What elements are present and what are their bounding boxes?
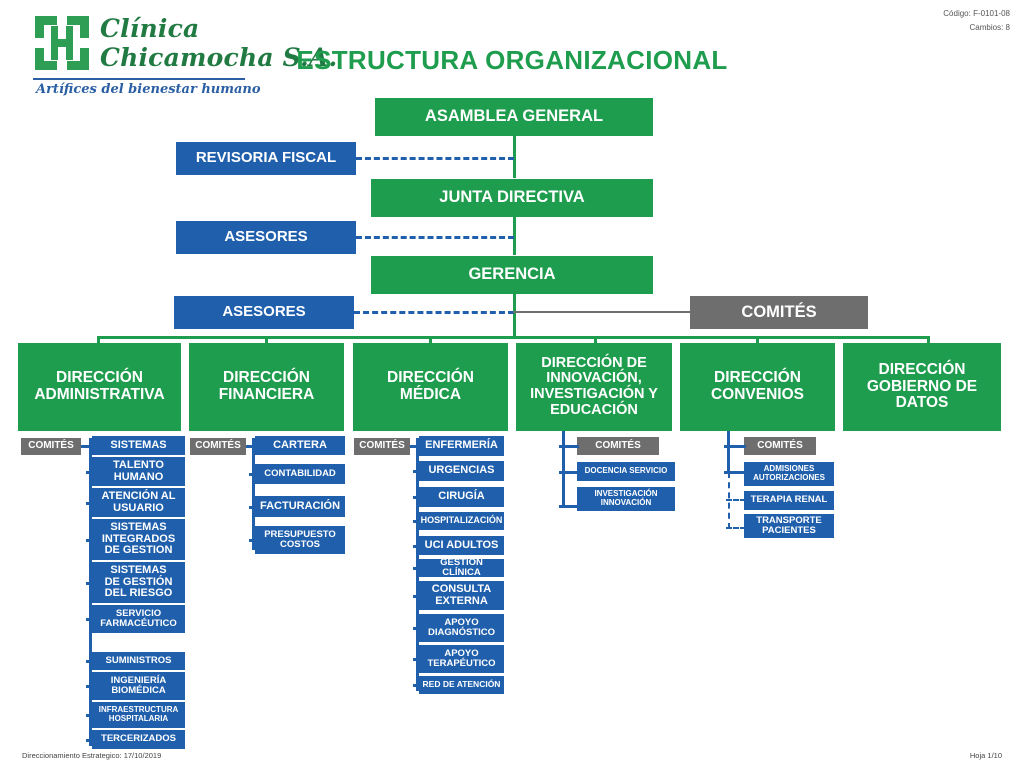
node-label-line: CONSULTA	[432, 584, 491, 596]
node-cirugia[interactable]: CIRUGÍA	[419, 487, 504, 507]
node-label-line: DATOS	[896, 395, 949, 412]
node-label-line: EDUCACIÓN	[550, 403, 638, 419]
node-label: COMITÉS	[359, 441, 405, 452]
node-label-line: GOBIERNO DE	[867, 379, 977, 396]
node-comites-administrativa[interactable]: COMITÉS	[21, 438, 81, 455]
connector-conv-2	[726, 527, 746, 529]
connector-admin-8	[86, 714, 94, 717]
org-chart-page: Clínica Chicamocha S.A. Artífices del bi…	[0, 0, 1024, 768]
connector-asesores-junta-to-spine	[356, 236, 514, 239]
connector-med-8	[413, 658, 421, 661]
node-red-de-atencion[interactable]: RED DE ATENCIÓN	[419, 676, 504, 694]
node-admisiones-autorizaciones[interactable]: ADMISIONESAUTORIZACIONES	[744, 462, 834, 486]
node-infraestructura-hospitalaria[interactable]: INFRAESTRUCTURAHOSPITALARIA	[92, 702, 185, 728]
node-label-line: INNOVACIÓN	[601, 499, 652, 508]
node-facturacion[interactable]: FACTURACIÓN	[255, 496, 345, 517]
node-label: SISTEMAS	[110, 440, 166, 452]
node-label-line: FINANCIERA	[219, 387, 315, 404]
connector-med-9	[413, 684, 421, 687]
node-direccion-medica[interactable]: DIRECCIÓN MÉDICA	[353, 343, 508, 431]
node-direccion-convenios[interactable]: DIRECCIÓN CONVENIOS	[680, 343, 835, 431]
connector-med-0	[413, 445, 421, 448]
document-changes: Cambios: 8	[943, 21, 1010, 35]
node-label: ASAMBLEA GENERAL	[425, 108, 603, 126]
connector-innov-comites	[559, 445, 579, 448]
node-label-line: CONVENIOS	[711, 387, 804, 404]
node-servicio-farmaceutico[interactable]: SERVICIOFARMACÉUTICO	[92, 605, 185, 633]
node-label: FACTURACIÓN	[260, 501, 340, 513]
node-label: CIRUGÍA	[438, 491, 484, 503]
connector-asesores-gerencia-to-spine	[354, 311, 514, 314]
node-gerencia[interactable]: GERENCIA	[371, 256, 653, 294]
brand-name-line1: Clínica	[100, 14, 337, 43]
node-contabilidad[interactable]: CONTABILIDAD	[255, 464, 345, 484]
node-label-line: HUMANO	[114, 472, 164, 484]
node-label-line: DE GESTION	[105, 545, 173, 557]
connector-med-3	[413, 520, 421, 523]
node-label-line: USUARIO	[113, 503, 164, 515]
node-label: CARTERA	[273, 440, 327, 452]
brand-tagline: Artífices del bienestar humano	[36, 82, 261, 97]
node-label-line: DEL RIESGO	[105, 588, 173, 600]
document-code: Código: F-0101-08	[943, 7, 1010, 21]
node-label-line: BIOMÉDICA	[111, 686, 165, 696]
node-revisoria-fiscal[interactable]: REVISORIA FISCAL	[176, 142, 356, 175]
rail-convenios	[727, 431, 730, 472]
connector-innov-0	[559, 471, 579, 474]
node-atencion-al-usuario[interactable]: ATENCIÓN ALUSUARIO	[92, 488, 185, 517]
rail-innovacion	[562, 431, 565, 508]
node-junta-directiva[interactable]: JUNTA DIRECTIVA	[371, 179, 653, 217]
node-label: COMITÉS	[757, 441, 803, 452]
node-label-line: DIRECCIÓN	[714, 370, 801, 387]
node-label-line: INNOVACIÓN,	[546, 371, 642, 387]
node-label: COMITÉS	[595, 441, 641, 452]
brand-divider	[33, 78, 245, 80]
node-docencia-servicio[interactable]: DOCENCIA SERVICIO	[577, 462, 675, 481]
node-label: ASESORES	[224, 229, 307, 245]
node-label-line: SISTEMAS	[110, 565, 166, 577]
node-label: CONTABILIDAD	[264, 469, 336, 479]
node-label-line: DIRECCIÓN	[56, 370, 143, 387]
connector-conv-1	[726, 499, 746, 501]
connector-med-1	[413, 470, 421, 473]
node-suministros[interactable]: SUMINISTROS	[92, 652, 185, 670]
node-label-line: MÉDICA	[400, 387, 461, 404]
node-terapia-renal[interactable]: TERAPIA RENAL	[744, 491, 834, 510]
connector-admin-2	[86, 502, 94, 505]
connector-admin-5	[86, 618, 94, 621]
connector-innov-1	[559, 505, 579, 508]
node-label: RED DE ATENCIÓN	[423, 680, 501, 689]
node-label-line: FARMACÉUTICO	[100, 619, 177, 629]
node-label: UCI ADULTOS	[425, 540, 499, 552]
node-investigacion-innovacion[interactable]: INVESTIGACIÓNINNOVACIÓN	[577, 487, 675, 511]
connector-spine-to-comites-top	[513, 311, 690, 313]
node-label-line: AUTORIZACIONES	[753, 474, 825, 483]
connector-conv-0	[724, 471, 746, 474]
connector-med-5	[413, 567, 421, 570]
node-urgencias[interactable]: URGENCIAS	[419, 461, 504, 481]
connector-admin-4	[86, 582, 94, 585]
node-cartera[interactable]: CARTERA	[255, 436, 345, 455]
connector-fin-0	[249, 445, 257, 448]
node-sistemas-integrados-gestion[interactable]: SISTEMASINTEGRADOSDE GESTION	[92, 519, 185, 560]
spine-gerencia-bus	[513, 294, 516, 336]
node-comites-innovacion[interactable]: COMITÉS	[577, 437, 659, 455]
node-direccion-financiera[interactable]: DIRECCIÓN FINANCIERA	[189, 343, 344, 431]
node-consulta-externa[interactable]: CONSULTAEXTERNA	[419, 581, 504, 610]
node-apoyo-terapeutico[interactable]: APOYOTERAPÉUTICO	[419, 645, 504, 673]
node-label-line: TALENTO	[113, 460, 164, 472]
node-enfermeria[interactable]: ENFERMERÍA	[419, 436, 504, 456]
node-label: TERAPIA RENAL	[751, 495, 828, 505]
connector-fin-3	[249, 539, 257, 542]
node-label-line: COSTOS	[280, 540, 320, 550]
node-label-line: DIAGNÓSTICO	[428, 628, 495, 638]
footer-left-note: Direccionamiento Estrategico: 17/10/2019	[22, 751, 161, 760]
connector-med-6	[413, 595, 421, 598]
node-label-line: HOSPITALARIA	[109, 715, 168, 724]
node-label-line: DIRECCIÓN	[879, 362, 966, 379]
node-sistemas-gestion-riesgo[interactable]: SISTEMASDE GESTIÓNDEL RIESGO	[92, 562, 185, 603]
node-label: COMITÉS	[28, 441, 74, 452]
connector-admin-6	[86, 660, 94, 663]
connector-conv-comites	[724, 445, 746, 448]
node-label-line: DIRECCIÓN DE	[541, 356, 647, 372]
node-comites-gerencia[interactable]: COMITÉS	[690, 296, 868, 329]
node-label: JUNTA DIRECTIVA	[439, 189, 584, 207]
node-label: SUMINISTROS	[106, 656, 172, 666]
connector-admin-0	[86, 445, 94, 448]
node-label: URGENCIAS	[428, 465, 494, 477]
node-hospitalizacion[interactable]: HOSPITALIZACIÓN	[419, 512, 504, 530]
node-tercerizados[interactable]: TERCERIZADOS	[92, 730, 185, 749]
node-label: REVISORIA FISCAL	[196, 150, 336, 166]
node-asesores-gerencia[interactable]: ASESORES	[174, 296, 354, 329]
node-comites-medica[interactable]: COMITÉS	[354, 438, 410, 455]
node-label-line: TERAPÉUTICO	[427, 659, 495, 669]
node-label: COMITÉS	[741, 304, 816, 322]
connector-revisoria-to-spine	[356, 157, 514, 160]
node-sistemas[interactable]: SISTEMAS	[92, 436, 185, 455]
node-direccion-innovacion[interactable]: DIRECCIÓN DE INNOVACIÓN, INVESTIGACIÓN Y…	[516, 343, 672, 431]
node-comites-financiera[interactable]: COMITÉS	[190, 438, 246, 455]
node-label: HOSPITALIZACIÓN	[421, 516, 503, 526]
node-asamblea-general[interactable]: ASAMBLEA GENERAL	[375, 98, 653, 136]
node-label: ASESORES	[222, 304, 305, 320]
node-direccion-gobierno-datos[interactable]: DIRECCIÓN GOBIERNO DE DATOS	[843, 343, 1001, 431]
node-label-line: PACIENTES	[762, 526, 816, 536]
node-label: ENFERMERÍA	[425, 440, 498, 452]
node-label-line: DIRECCIÓN	[223, 370, 310, 387]
node-label: COMITÉS	[195, 441, 241, 452]
connector-med-2	[413, 496, 421, 499]
node-direccion-administrativa[interactable]: DIRECCIÓN ADMINISTRATIVA	[18, 343, 181, 431]
node-presupuesto-costos[interactable]: PRESUPUESTOCOSTOS	[255, 526, 345, 554]
node-label-line: DIRECCIÓN	[387, 370, 474, 387]
node-label: TERCERIZADOS	[101, 734, 176, 744]
node-apoyo-diagnostico[interactable]: APOYODIAGNÓSTICO	[419, 614, 504, 642]
connector-med-4	[413, 545, 421, 548]
connector-bus-directions	[97, 336, 930, 339]
document-meta: Código: F-0101-08 Cambios: 8	[943, 7, 1010, 35]
node-label-line: EXTERNA	[435, 596, 488, 608]
node-label: DOCENCIA SERVICIO	[585, 467, 668, 476]
connector-fin-2	[249, 506, 257, 509]
node-comites-convenios[interactable]: COMITÉS	[744, 437, 816, 455]
node-label: GESTIÓN CLÍNICA	[421, 558, 502, 579]
footer-page-number: Hoja 1/10	[970, 751, 1002, 760]
connector-admin-9	[86, 739, 94, 742]
connector-fin-1	[249, 473, 257, 476]
page-title: ESTRUCTURA ORGANIZACIONAL	[0, 45, 1024, 76]
node-label-line: SISTEMAS	[110, 522, 166, 534]
node-label-line: ADMINISTRATIVA	[34, 387, 164, 404]
connector-admin-7	[86, 685, 94, 688]
node-asesores-junta[interactable]: ASESORES	[176, 221, 356, 254]
node-uci-adultos[interactable]: UCI ADULTOS	[419, 536, 504, 555]
node-label: GERENCIA	[468, 266, 555, 284]
node-talento-humano[interactable]: TALENTOHUMANO	[92, 457, 185, 486]
node-label-line: INVESTIGACIÓN Y	[530, 387, 658, 403]
node-label-line: ATENCIÓN AL	[102, 491, 176, 503]
node-ingenieria-biomedica[interactable]: INGENIERÍABIOMÉDICA	[92, 672, 185, 700]
connector-med-7	[413, 627, 421, 630]
node-transporte-pacientes[interactable]: TRANSPORTEPACIENTES	[744, 514, 834, 538]
connector-admin-3	[86, 539, 94, 542]
node-gestion-clinica[interactable]: GESTIÓN CLÍNICA	[419, 559, 504, 577]
connector-admin-1	[86, 471, 94, 474]
